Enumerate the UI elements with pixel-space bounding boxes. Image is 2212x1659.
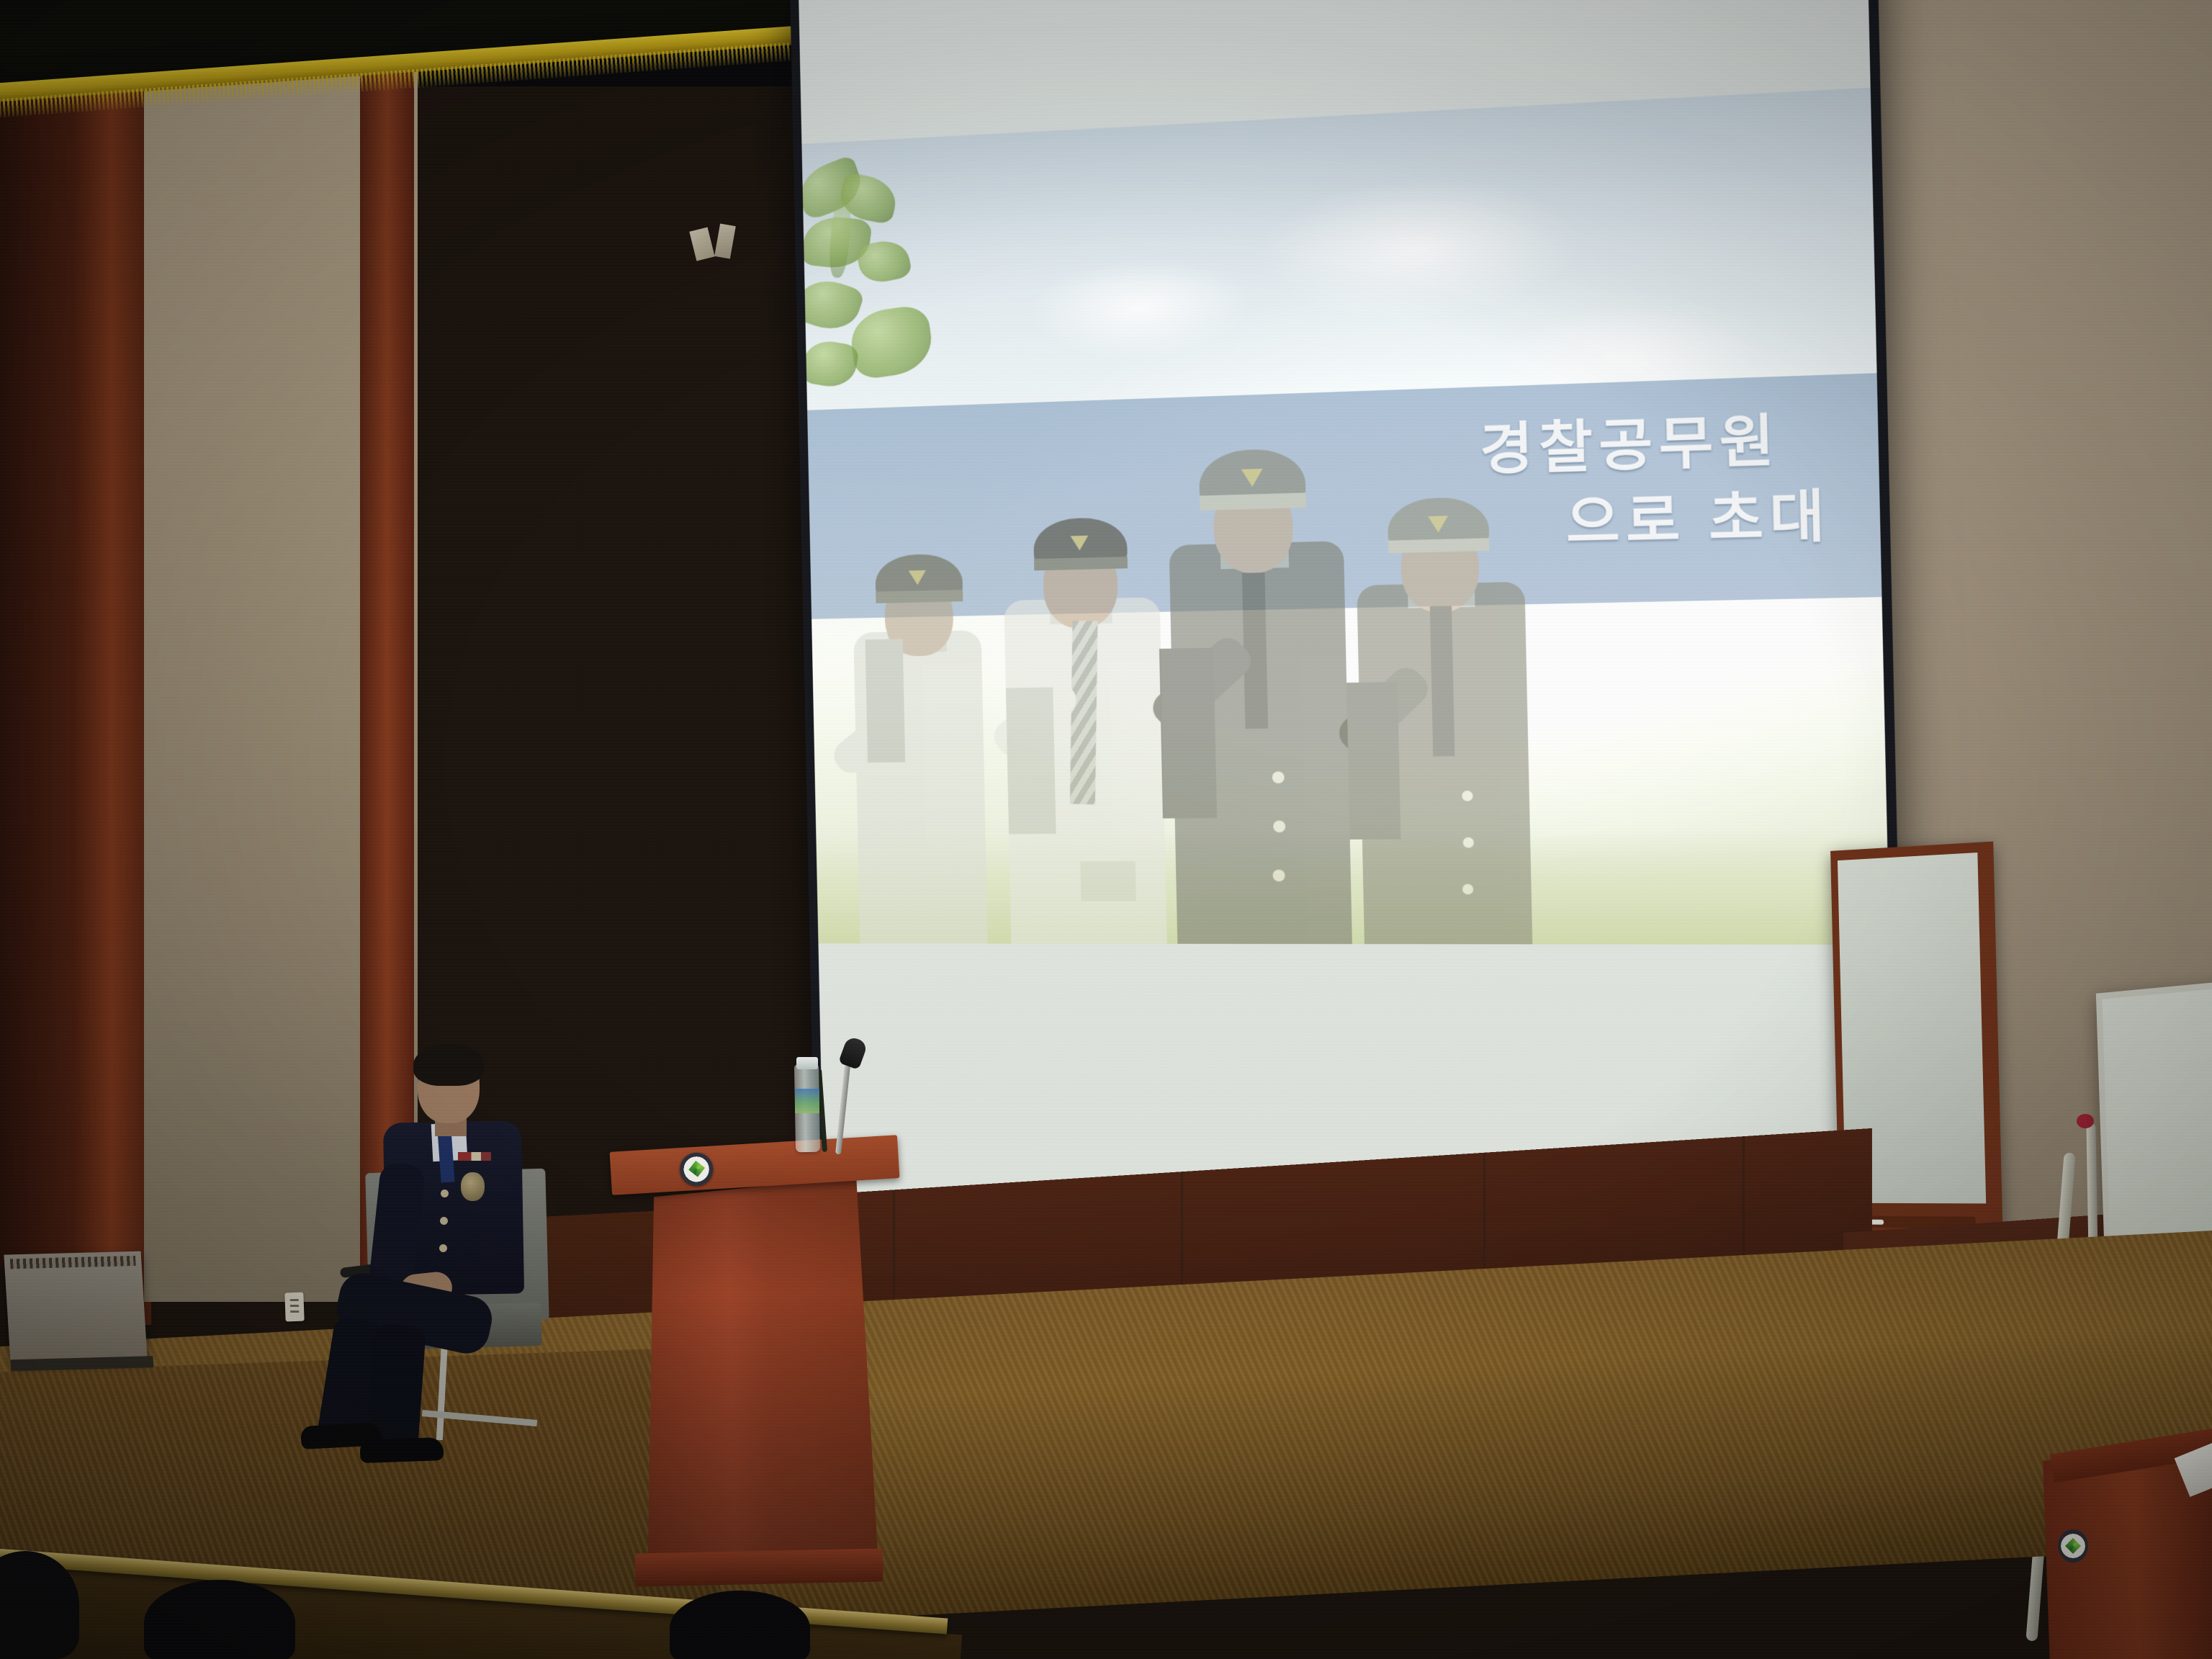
second-podium — [2051, 1440, 2212, 1659]
audience-head-silhouette — [144, 1580, 295, 1659]
emblem-green-diamond-icon — [688, 1159, 706, 1178]
institution-emblem-icon — [678, 1151, 715, 1187]
podium-body — [639, 1177, 878, 1564]
tape-scrap-on-column-2 — [714, 223, 736, 258]
wall-heater-unit — [4, 1251, 147, 1363]
wall-column-left-1 — [72, 43, 151, 1325]
institution-emblem-icon — [2058, 1529, 2088, 1563]
uniform-button — [439, 1244, 447, 1252]
uniform-button — [440, 1217, 448, 1225]
officer-shoe — [359, 1437, 444, 1463]
podium-base — [635, 1548, 884, 1586]
projection-screen-surface: 경찰공무원 으로 초대 — [799, 0, 1897, 1254]
slide-title-line-2: 으로 초대 — [1565, 470, 1831, 559]
slide-officer-2 — [990, 486, 1178, 943]
projected-slide: 경찰공무원 으로 초대 — [801, 88, 1889, 945]
seated-police-officer — [281, 1037, 583, 1455]
heater-vent — [10, 1256, 136, 1269]
auditorium-scene: 경찰공무원 으로 초대 — [0, 0, 2212, 1659]
projection-screen: 경찰공무원 으로 초대 — [790, 0, 1907, 1262]
officer-badge — [461, 1172, 485, 1201]
slide-officer-4 — [1342, 461, 1547, 945]
water-bottle-cap[interactable] — [796, 1057, 818, 1069]
tape-scrap-on-column — [689, 227, 714, 261]
audience-head-silhouette — [670, 1591, 810, 1659]
main-podium — [616, 1143, 897, 1611]
slide-officer-1 — [838, 513, 999, 944]
officer-hair — [413, 1044, 484, 1086]
slide-officer-3 — [1151, 421, 1367, 944]
water-bottle-label — [795, 1089, 819, 1113]
emblem-green-diamond-icon — [2065, 1538, 2081, 1554]
easel-adjust-knob[interactable] — [2077, 1114, 2094, 1128]
uniform-button — [441, 1190, 449, 1197]
officer-ribbon-bar — [458, 1152, 491, 1161]
